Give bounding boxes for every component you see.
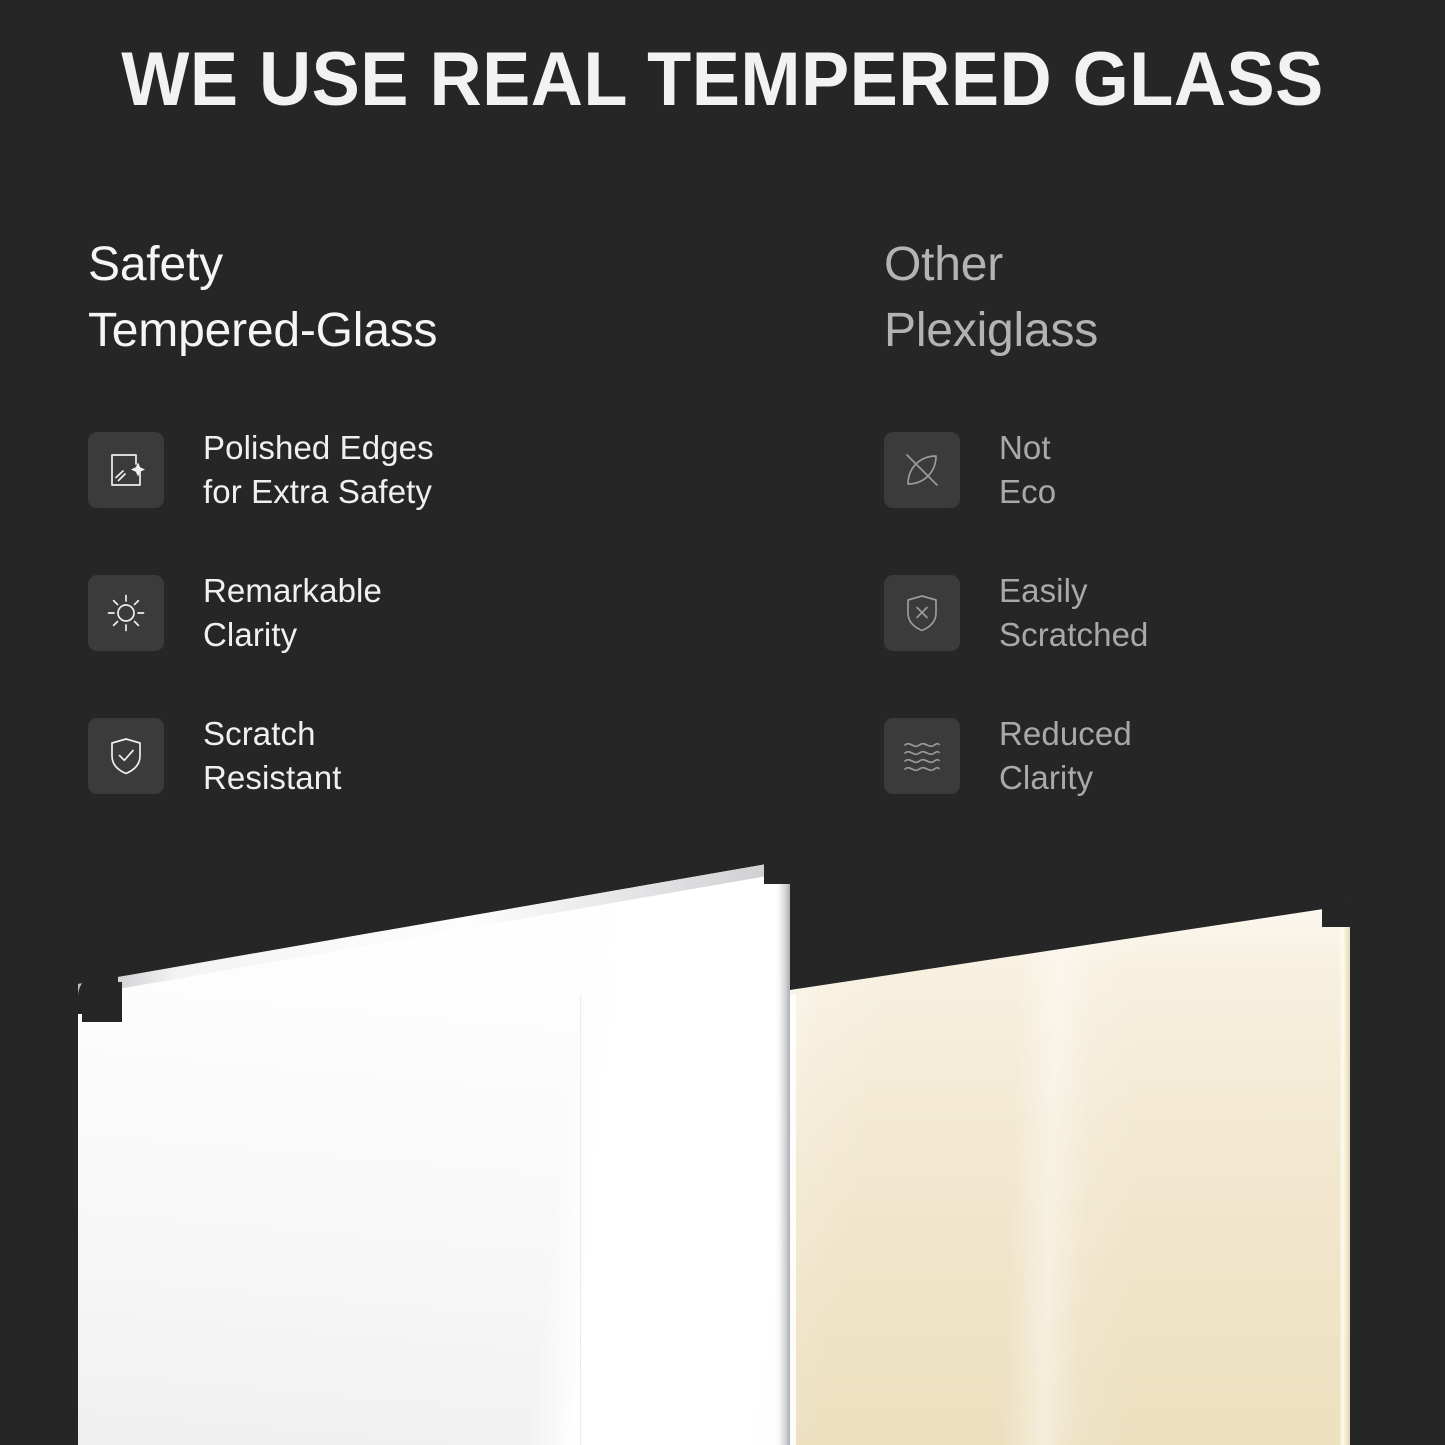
- feature-label: Scratch Resistant: [203, 712, 341, 802]
- column-tempered-glass: Safety Tempered-Glass Polished Edges for…: [88, 232, 648, 851]
- feature-label: Reduced Clarity: [999, 712, 1132, 802]
- page-title: WE USE REAL TEMPERED GLASS: [36, 40, 1409, 120]
- feature-row-scratch-resistant: Scratch Resistant: [88, 708, 648, 804]
- feature-label: Polished Edges for Extra Safety: [203, 426, 434, 516]
- feature-row-not-eco: Not Eco: [884, 422, 1444, 518]
- feature-row-remarkable-clarity: Remarkable Clarity: [88, 565, 648, 661]
- polished-edge-sparkle-icon: [104, 448, 148, 492]
- plexiglass-panel: [790, 840, 1350, 1445]
- tempered-glass-panel: [78, 840, 790, 1445]
- icon-badge: [88, 718, 164, 794]
- leaf-crossed-out-icon: [900, 448, 944, 492]
- shield-check-icon: [104, 734, 148, 778]
- comparison-infographic: WE USE REAL TEMPERED GLASS Safety Temper…: [0, 0, 1445, 1445]
- feature-label: Not Eco: [999, 426, 1056, 516]
- shield-x-icon: [900, 591, 944, 635]
- wavy-lines-icon: [900, 734, 944, 778]
- column-heading-plexiglass: Other Plexiglass: [884, 232, 1444, 364]
- feature-row-polished-edges: Polished Edges for Extra Safety: [88, 422, 648, 518]
- comparison-columns: Safety Tempered-Glass Polished Edges for…: [0, 232, 1445, 832]
- product-photo: [0, 840, 1445, 1445]
- feature-row-easily-scratched: Easily Scratched: [884, 565, 1444, 661]
- icon-badge: [88, 575, 164, 651]
- feature-label: Easily Scratched: [999, 569, 1148, 659]
- column-plexiglass: Other Plexiglass Not Eco: [884, 232, 1444, 851]
- icon-badge: [884, 718, 960, 794]
- column-heading-tempered-glass: Safety Tempered-Glass: [88, 232, 648, 364]
- icon-badge: [884, 432, 960, 508]
- feature-row-reduced-clarity: Reduced Clarity: [884, 708, 1444, 804]
- icon-badge: [884, 575, 960, 651]
- sun-icon: [104, 591, 148, 635]
- icon-badge: [88, 432, 164, 508]
- feature-label: Remarkable Clarity: [203, 569, 382, 659]
